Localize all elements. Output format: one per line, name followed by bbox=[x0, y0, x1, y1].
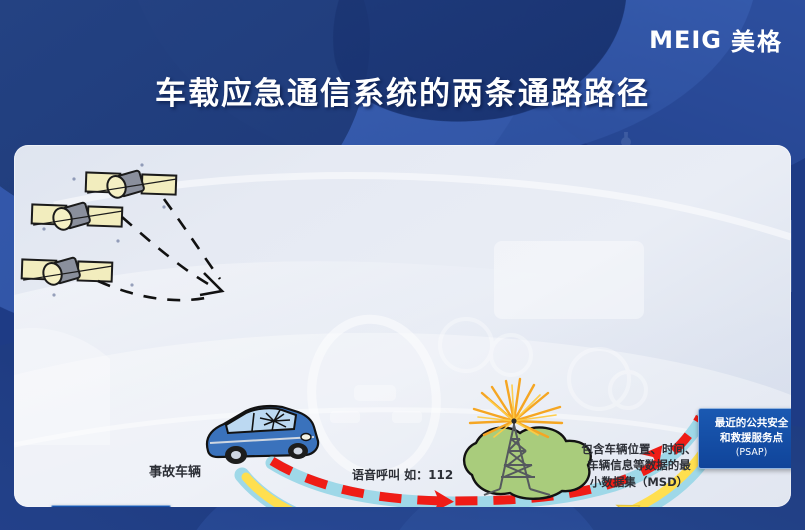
psap-line-1: 最近的公共安全 bbox=[703, 416, 791, 431]
psap-callout: 最近的公共安全 和救援服务点 (PSAP) bbox=[698, 408, 791, 469]
voice-call-label: 语音呼叫 如：112 bbox=[352, 466, 453, 483]
accident-vehicle-label: 事故车辆 bbox=[149, 461, 201, 480]
diagram-panel: 事故车辆 语音呼叫 如：112 数据呼叫 如：112 包含车辆位置、时间、 车辆… bbox=[14, 145, 791, 507]
msd-line-3: 小数据集（MSD） bbox=[559, 474, 719, 490]
brand-mark-text: MEIG bbox=[649, 26, 722, 54]
msd-description: 包含车辆位置、时间、 车辆信息等数据的最 小数据集（MSD） bbox=[559, 441, 719, 490]
msd-line-1: 包含车辆位置、时间、 bbox=[559, 441, 719, 457]
psap-line-2: 和救援服务点 bbox=[703, 431, 791, 446]
msd-line-2: 车辆信息等数据的最 bbox=[559, 457, 719, 473]
legend-box: 语音 数据 bbox=[51, 505, 171, 507]
page-title: 车载应急通信系统的两条通路路径 bbox=[0, 68, 805, 113]
accident-car bbox=[207, 406, 318, 464]
brand-name-text: 美格 bbox=[731, 22, 783, 57]
slide-canvas: MEIG 美格 车载应急通信系统的两条通路路径 bbox=[0, 0, 805, 530]
psap-line-3: (PSAP) bbox=[703, 446, 791, 460]
brand-logo: MEIG 美格 bbox=[649, 22, 783, 57]
